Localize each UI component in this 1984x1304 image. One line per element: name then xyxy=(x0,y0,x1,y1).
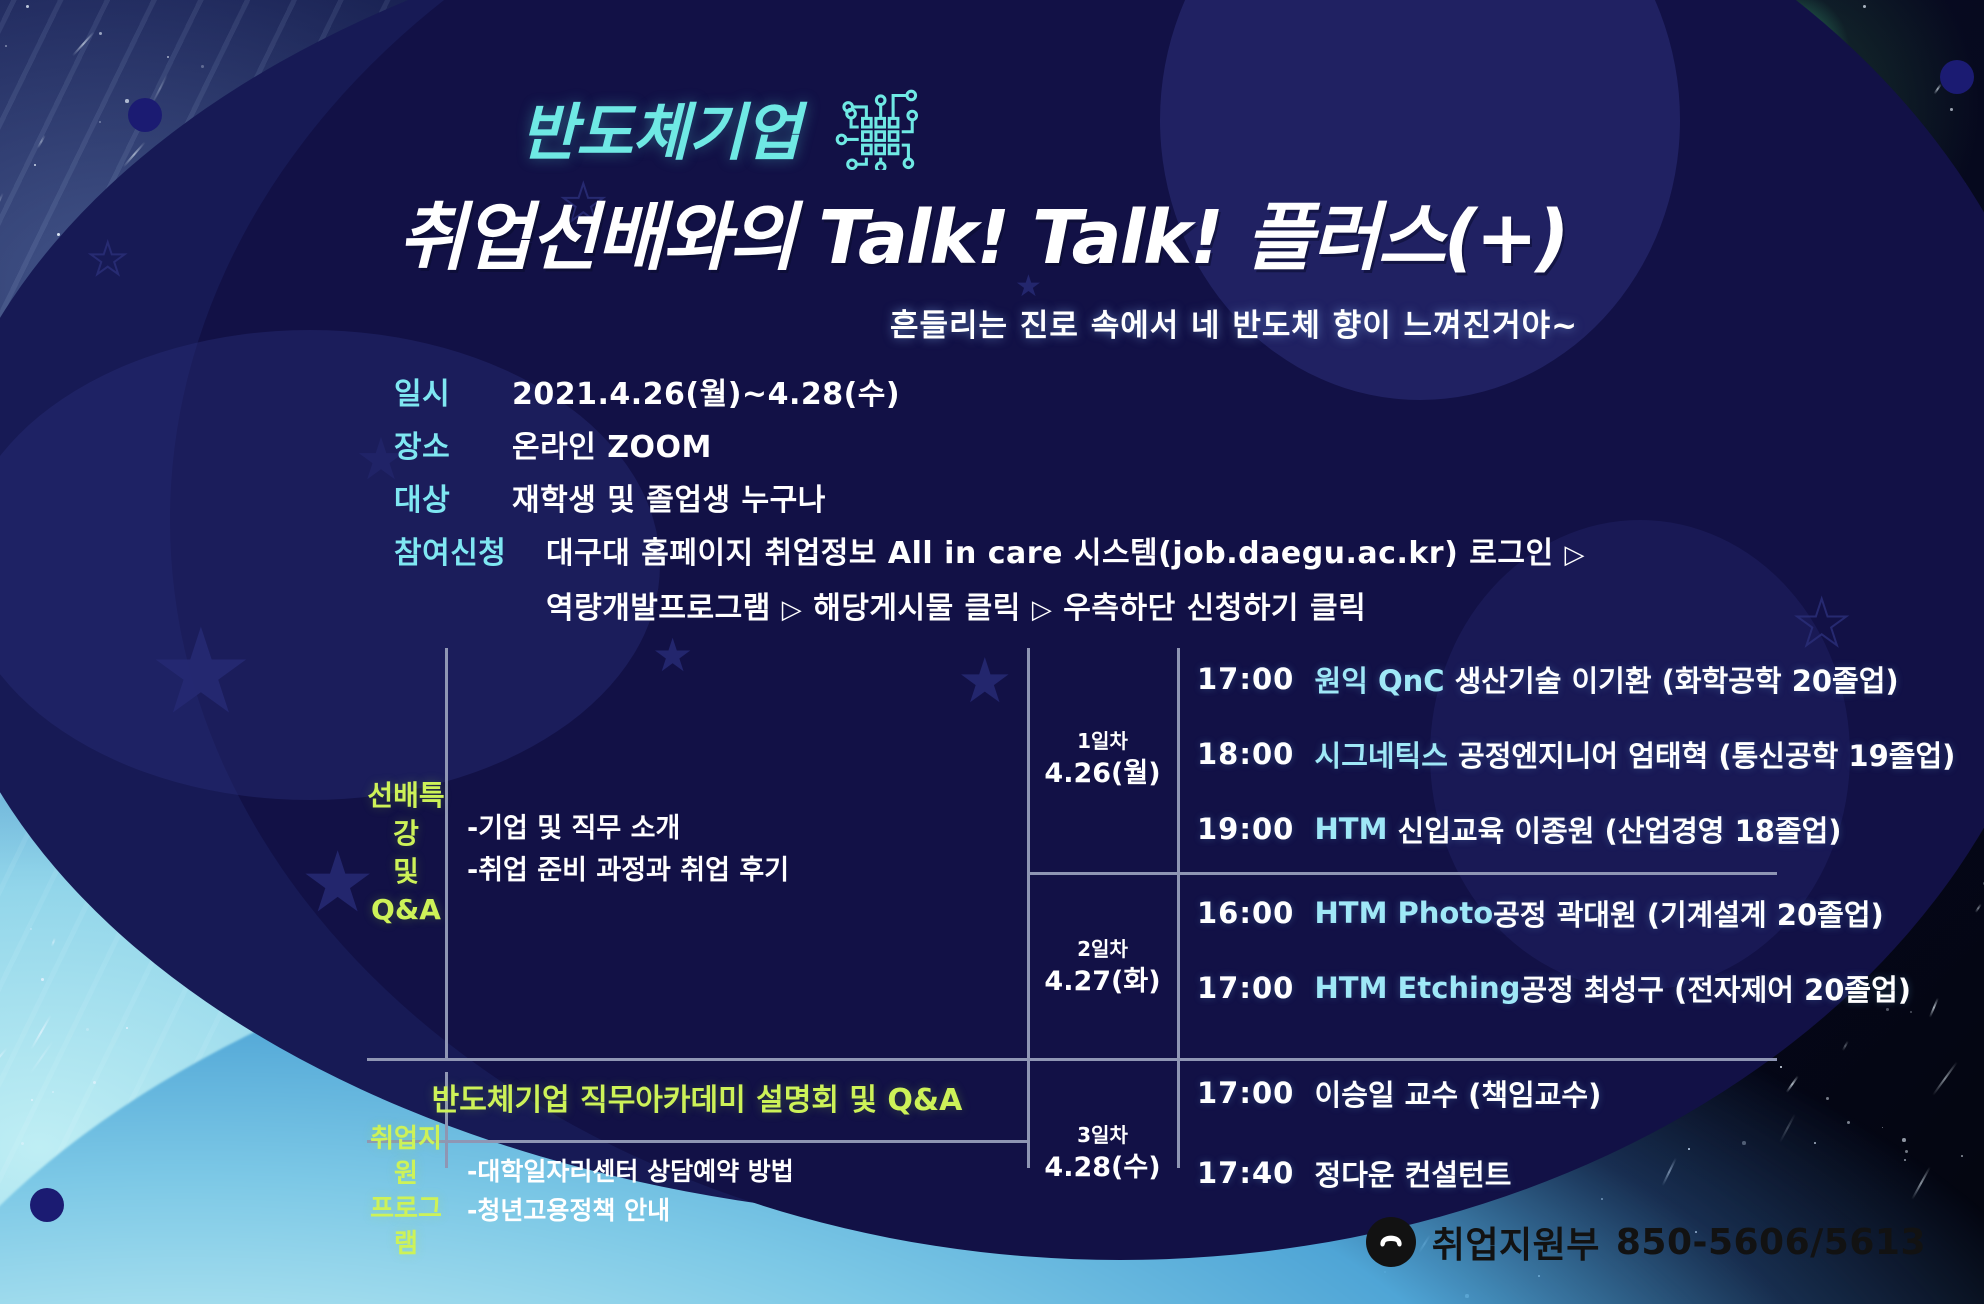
day-2-number: 2일차 xyxy=(1077,935,1128,963)
footer-contact: 취업지원부 850-5606/5613 xyxy=(1366,1216,1926,1268)
session-company: 시그네틱스 xyxy=(1315,733,1448,775)
table-hline-section xyxy=(367,1058,1777,1061)
program-1-desc-line-2: -취업 준비 과정과 취업 후기 xyxy=(467,850,789,892)
session-detail: 생산기술 이기환 (화학공학 20졸업) xyxy=(1455,658,1899,700)
info-value-apply-2b: 해당게시물 클릭 xyxy=(813,591,1021,626)
day-2-date: 4.27(화) xyxy=(1044,963,1160,1001)
session-time: 19:00 xyxy=(1197,812,1294,846)
session-time: 17:00 xyxy=(1197,971,1294,1005)
table-vline-1 xyxy=(445,648,448,1058)
session-detail: 공정엔지니어 엄태혁 (통신공학 19졸업) xyxy=(1458,733,1955,775)
session-row: 17:00 원익 QnC 생산기술 이기환 (화학공학 20졸업) xyxy=(1197,658,1899,700)
eyebrow-title: 반도체기업 xyxy=(520,82,800,172)
arrow-icon-3: ▷ xyxy=(1032,595,1053,625)
session-company: HTM Photo xyxy=(1315,896,1494,930)
info-row-date: 일시2021.4.26(월)~4.28(수) xyxy=(394,368,1585,421)
table-vline-3 xyxy=(1177,648,1180,1168)
info-value-apply-2c: 우측하단 신청하기 클릭 xyxy=(1063,591,1366,626)
headline-group: 반도체기업 xyxy=(520,82,922,172)
info-value-date: 2021.4.26(월)~4.28(수) xyxy=(512,377,900,412)
session-detail: 정다운 컨설턴트 xyxy=(1315,1152,1512,1194)
corner-dot-top-left xyxy=(128,98,162,132)
day-3-number: 3일차 xyxy=(1077,1121,1128,1149)
info-label-place: 장소 xyxy=(394,421,512,474)
program-1-title: 선배특강및Q&A xyxy=(367,648,445,1058)
program-1-desc: -기업 및 직무 소개 -취업 준비 과정과 취업 후기 xyxy=(467,760,1017,940)
info-label-date: 일시 xyxy=(394,368,512,421)
decorative-star-7: ★ xyxy=(88,238,127,282)
day-1-date: 4.26(월) xyxy=(1044,755,1160,793)
info-value-apply-1: 대구대 홈페이지 취업정보 All in care 시스템(job.daegu.… xyxy=(546,536,1554,571)
program-3-desc: -대학일자리센터 상담예약 방법 -청년고용정책 안내 xyxy=(467,1142,1017,1242)
session-detail: 공정 최성구 (전자제어 20졸업) xyxy=(1520,967,1911,1009)
session-row: 16:00 HTM Photo 공정 곽대원 (기계설계 20졸업) xyxy=(1197,892,1884,934)
session-time: 18:00 xyxy=(1197,737,1294,771)
decorative-star-2: ★ xyxy=(300,840,375,924)
day-3-cell: 3일차 4.28(수) xyxy=(1030,1066,1175,1241)
circuit-chip-icon xyxy=(826,84,922,170)
info-value-target: 재학생 및 졸업생 누구나 xyxy=(512,483,826,518)
day-2-cell: 2일차 4.27(화) xyxy=(1030,880,1175,1055)
poster-root: ★ ★ ★ ★ ★ ★ ★ ★ ★ 반도체기업 xyxy=(0,0,1984,1304)
info-value-place: 온라인 ZOOM xyxy=(512,430,712,465)
session-detail: 공정 곽대원 (기계설계 20졸업) xyxy=(1493,892,1884,934)
day-1-cell: 1일차 4.26(월) xyxy=(1030,648,1175,872)
arrow-icon-1: ▷ xyxy=(1565,540,1586,570)
tagline: 흔들리는 진로 속에서 네 반도체 향이 느껴진거야~ xyxy=(890,300,1578,345)
arrow-icon-2: ▷ xyxy=(782,595,803,625)
main-title: 취업선배와의 Talk! Talk! 플러스(+) xyxy=(398,178,1568,285)
corner-dot-top-right xyxy=(1940,60,1974,94)
session-row: 18:00 시그네틱스 공정엔지니어 엄태혁 (통신공학 19졸업) xyxy=(1197,733,1955,775)
table-hline-day1-day2 xyxy=(1027,872,1777,875)
day-1-number: 1일차 xyxy=(1077,727,1128,755)
decorative-star-5: ★ xyxy=(1793,592,1850,656)
day-3-date: 4.28(수) xyxy=(1044,1149,1160,1187)
session-row: 19:00 HTM 신입교육 이종원 (산업경영 18졸업) xyxy=(1197,808,1842,850)
session-company: HTM xyxy=(1315,812,1388,846)
session-row: 17:00 HTM Etching 공정 최성구 (전자제어 20졸업) xyxy=(1197,967,1911,1009)
session-company: 원익 QnC xyxy=(1315,658,1445,700)
session-detail: 신입교육 이종원 (산업경영 18졸업) xyxy=(1398,808,1842,850)
program-3-desc-line-2: -청년고용정책 안내 xyxy=(467,1192,670,1231)
session-row: 17:00 이승일 교수 (책임교수) xyxy=(1197,1072,1601,1114)
decorative-star-1: ★ xyxy=(148,612,254,730)
session-company: HTM Etching xyxy=(1315,971,1521,1005)
info-block: 일시2021.4.26(월)~4.28(수) 장소온라인 ZOOM 대상재학생 … xyxy=(394,368,1585,637)
session-time: 17:40 xyxy=(1197,1156,1294,1190)
session-detail: 이승일 교수 (책임교수) xyxy=(1315,1072,1602,1114)
info-row-target: 대상재학생 및 졸업생 누구나 xyxy=(394,474,1585,527)
program-3-title: 취업지원프로그램 xyxy=(367,1144,445,1240)
session-time: 17:00 xyxy=(1197,662,1294,696)
info-label-target: 대상 xyxy=(394,474,512,527)
session-row: 17:40 정다운 컨설턴트 xyxy=(1197,1152,1511,1194)
info-row-apply: 참여신청대구대 홈페이지 취업정보 All in care 시스템(job.da… xyxy=(394,527,1585,582)
program-1-desc-line-1: -기업 및 직무 소개 xyxy=(467,808,680,850)
footer-phone: 850-5606/5613 xyxy=(1616,1222,1926,1263)
session-time: 16:00 xyxy=(1197,896,1294,930)
session-time: 17:00 xyxy=(1197,1076,1294,1110)
program-3-desc-line-1: -대학일자리센터 상담예약 방법 xyxy=(467,1153,794,1192)
phone-icon xyxy=(1366,1217,1416,1267)
info-row-apply-2: 역량개발프로그램 ▷ 해당게시물 클릭 ▷ 우측하단 신청하기 클릭 xyxy=(394,582,1585,637)
program-2-title: 반도체기업 직무아카데미 설명회 및 Q&A xyxy=(367,1066,1027,1136)
footer-dept: 취업지원부 xyxy=(1432,1216,1600,1268)
info-row-place: 장소온라인 ZOOM xyxy=(394,421,1585,474)
info-label-apply: 참여신청 xyxy=(394,527,546,580)
info-value-apply-2a: 역량개발프로그램 xyxy=(546,591,771,626)
schedule-table: 선배특강및Q&A -기업 및 직무 소개 -취업 준비 과정과 취업 후기 1일… xyxy=(367,640,1777,1170)
corner-dot-bottom-left xyxy=(30,1188,64,1222)
